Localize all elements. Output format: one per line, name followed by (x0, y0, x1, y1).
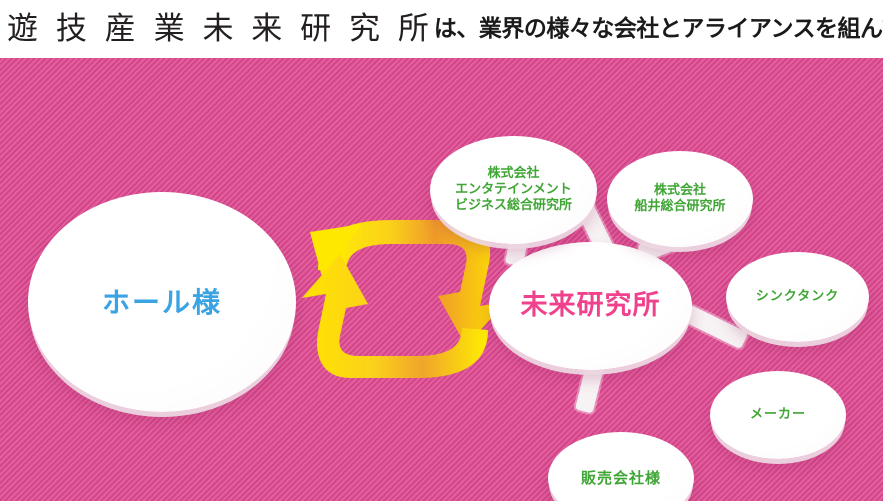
node-sales-company-label: 販売会社様 (581, 469, 661, 488)
node-funai-research-label: 株式会社 船井総合研究所 (634, 183, 725, 216)
accent-pink (258, 22, 273, 34)
title-char-rai: 来 (250, 14, 286, 45)
title-char-san: 産 (104, 14, 140, 45)
title-char-ken: 研 (299, 14, 335, 45)
accent-blue (161, 19, 177, 30)
node-mirai-kenkyujo[interactable]: 未来研究所 (489, 242, 692, 370)
title-char-jo: 所 (397, 14, 433, 45)
accent-orange (302, 27, 314, 42)
node-funai-research[interactable]: 株式会社 船井総合研究所 (607, 151, 753, 247)
slide-root: 遊 技 産 業 未 来 研 究 所 は、業界の様々な会社とアライアンスを組んでい… (0, 0, 883, 501)
title-char-yu: 遊 (6, 14, 42, 45)
title-char-kyu: 究 (348, 14, 384, 45)
accent-yellow (65, 27, 78, 40)
title-char-gyo: 業 (153, 14, 189, 45)
node-thinktank[interactable]: シンクタンク (726, 252, 869, 342)
title-char-mi: 未 (201, 14, 237, 45)
node-hall[interactable]: ホール様 (28, 192, 296, 412)
node-hall-label: ホール様 (102, 285, 222, 320)
node-entertainment-business-research[interactable]: 株式会社 エンタテインメント ビジネス総合研究所 (430, 136, 597, 244)
diagram-canvas: ホール様 未来研究所 株式会社 エンタテインメント ビジネス総合研究所 株式会社… (0, 58, 883, 501)
node-maker[interactable]: メーカー (710, 371, 846, 459)
node-sales-company[interactable]: 販売会社様 (548, 432, 694, 501)
node-entertainment-business-research-label: 株式会社 エンタテインメント ビジネス総合研究所 (455, 166, 572, 215)
page-title-kanji: 遊 技 産 業 未 来 研 究 所 (6, 14, 433, 45)
title-char-gi: 技 (55, 14, 91, 45)
node-mirai-kenkyujo-label: 未来研究所 (521, 289, 661, 323)
accent-green (113, 20, 126, 33)
page-header: 遊 技 産 業 未 来 研 究 所 は、業界の様々な会社とアライアンスを組んでい… (0, 0, 883, 58)
page-title-statement: は、業界の様々な会社とアライアンスを組んでいます。 (434, 18, 883, 41)
node-maker-label: メーカー (750, 407, 806, 423)
node-thinktank-label: シンクタンク (756, 289, 839, 305)
accent-purple (410, 20, 423, 34)
